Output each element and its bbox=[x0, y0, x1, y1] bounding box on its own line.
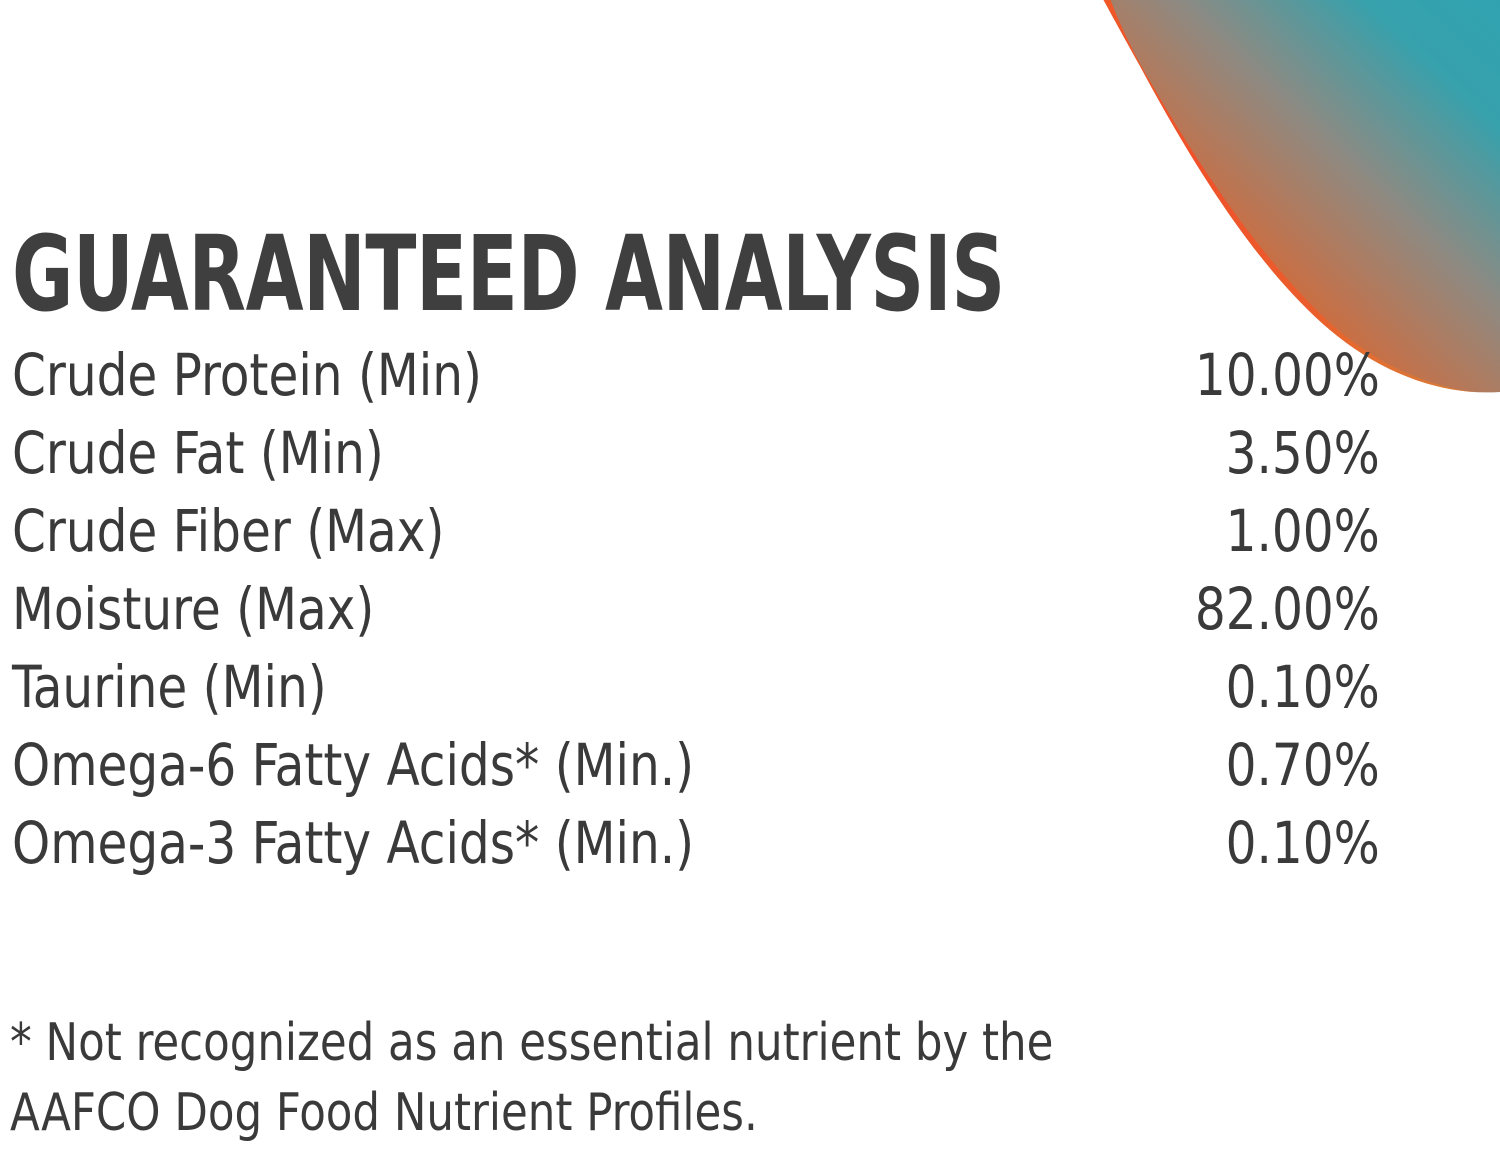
swoosh-body bbox=[1098, 0, 1500, 392]
footnote-line-2: AAFCO Dog Food Nutrient Profiles. bbox=[10, 1078, 1256, 1148]
nutrient-label: Moisture (Max) bbox=[12, 570, 374, 648]
table-row: Crude Fiber (Max) 1.00% bbox=[12, 492, 1380, 570]
table-row: Taurine (Min) 0.10% bbox=[12, 648, 1380, 726]
nutrient-label: Omega-6 Fatty Acids* (Min.) bbox=[12, 726, 694, 804]
guaranteed-analysis-panel: GUARANTEED ANALYSIS Crude Protein (Min) … bbox=[0, 0, 1500, 1161]
nutrient-value: 10.00% bbox=[1195, 336, 1380, 414]
nutrient-label: Crude Protein (Min) bbox=[12, 336, 482, 414]
nutrient-value: 0.70% bbox=[1226, 726, 1380, 804]
footnote: * Not recognized as an essential nutrien… bbox=[10, 1008, 1350, 1148]
table-row: Omega-3 Fatty Acids* (Min.) 0.10% bbox=[12, 804, 1380, 882]
page-title: GUARANTEED ANALYSIS bbox=[12, 222, 1005, 326]
nutrient-value: 1.00% bbox=[1226, 492, 1380, 570]
nutrient-label: Crude Fat (Min) bbox=[12, 414, 384, 492]
nutrient-label: Omega-3 Fatty Acids* (Min.) bbox=[12, 804, 694, 882]
table-row: Moisture (Max) 82.00% bbox=[12, 570, 1380, 648]
nutrient-value: 82.00% bbox=[1195, 570, 1380, 648]
nutrient-value: 0.10% bbox=[1226, 804, 1380, 882]
table-row: Crude Protein (Min) 10.00% bbox=[12, 336, 1380, 414]
table-row: Omega-6 Fatty Acids* (Min.) 0.70% bbox=[12, 726, 1380, 804]
nutrient-value: 0.10% bbox=[1226, 648, 1380, 726]
nutrient-value: 3.50% bbox=[1226, 414, 1380, 492]
nutrient-label: Taurine (Min) bbox=[12, 648, 327, 726]
guaranteed-analysis-table: Crude Protein (Min) 10.00% Crude Fat (Mi… bbox=[12, 336, 1380, 882]
table-row: Crude Fat (Min) 3.50% bbox=[12, 414, 1380, 492]
footnote-line-1: * Not recognized as an essential nutrien… bbox=[10, 1008, 1256, 1078]
nutrient-label: Crude Fiber (Max) bbox=[12, 492, 444, 570]
